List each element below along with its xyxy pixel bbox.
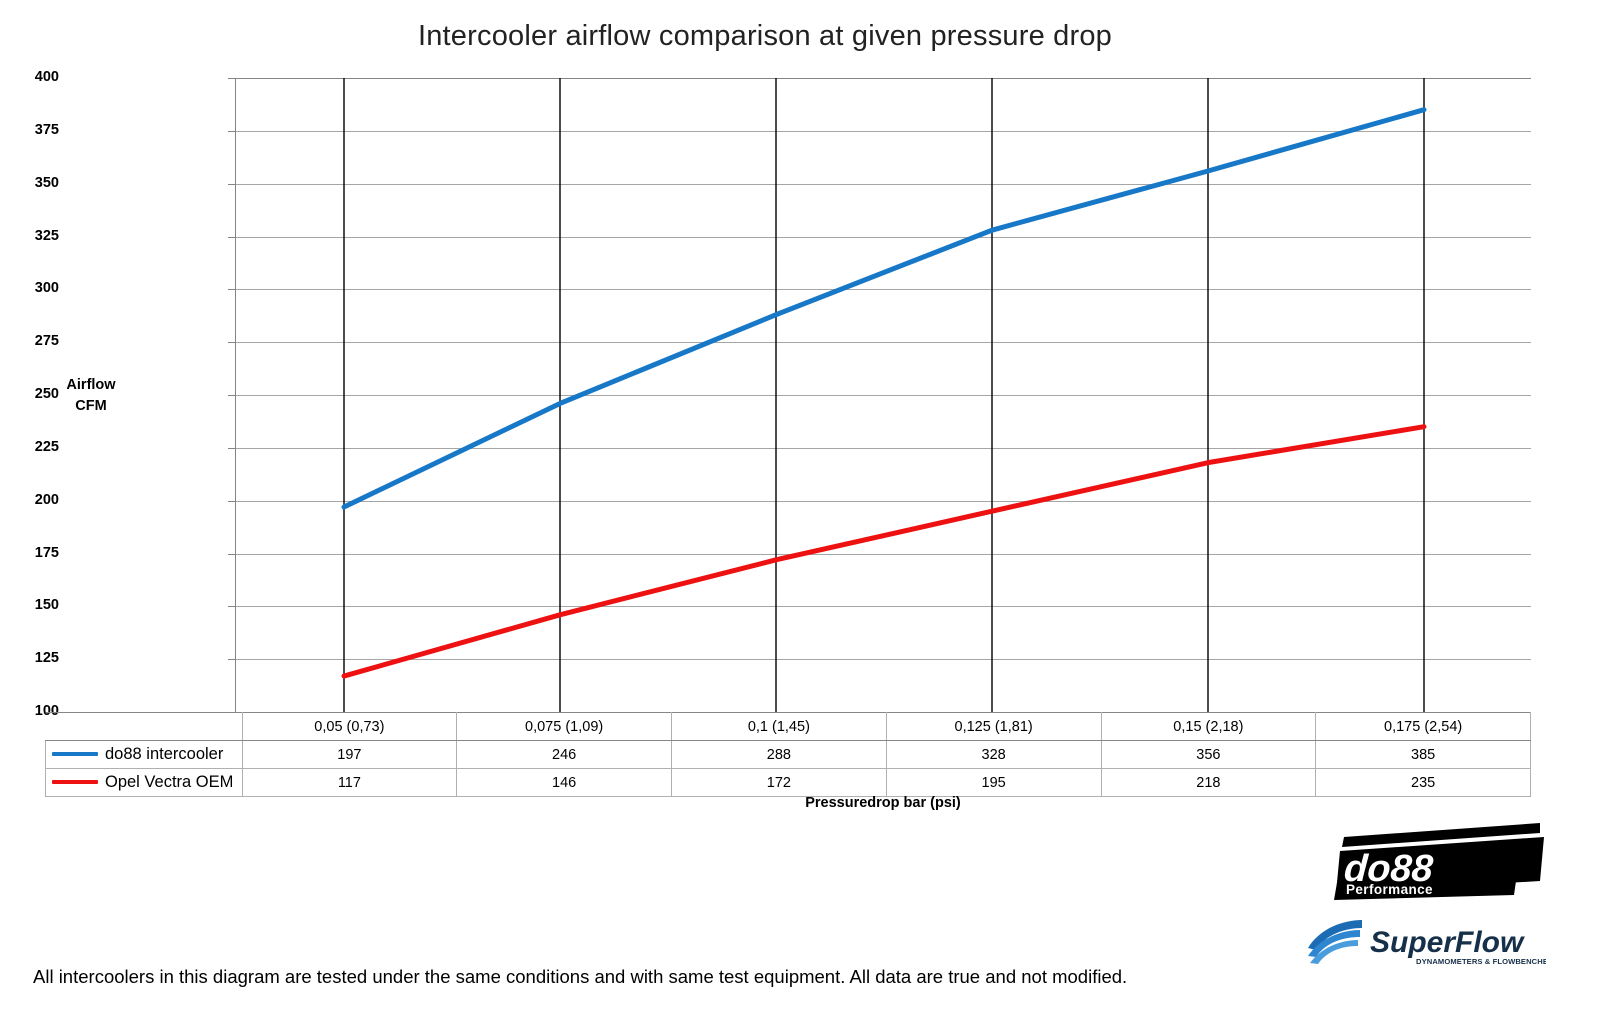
do88-logo-tagline: Performance [1346, 882, 1433, 897]
data-cell: 197 [242, 741, 457, 769]
legend-label: Opel Vectra OEM [105, 773, 233, 791]
series-lines [236, 78, 1532, 712]
y-axis-tick-label: 350 [13, 175, 59, 191]
data-cell: 356 [1101, 741, 1316, 769]
legend-item-0[interactable]: do88 intercooler [46, 741, 243, 769]
y-axis-tick-mark [228, 554, 235, 555]
legend-color-swatch-icon [52, 780, 98, 784]
y-axis-tick-label: 225 [13, 439, 59, 455]
y-axis-tick-label: 150 [13, 597, 59, 613]
data-cell: 172 [672, 769, 887, 797]
y-axis-tick-label: 125 [13, 650, 59, 666]
data-cell: 246 [457, 741, 672, 769]
series-line-0 [344, 110, 1424, 507]
y-axis-tick-mark [228, 289, 235, 290]
series-line-1 [344, 427, 1424, 676]
y-axis-tick-label: 200 [13, 492, 59, 508]
data-table: 0,05 (0,73)0,075 (1,09)0,1 (1,45)0,125 (… [45, 712, 1531, 797]
y-axis-tick-label: 275 [13, 333, 59, 349]
legend-label: do88 intercooler [105, 745, 223, 763]
y-axis-tick-mark [228, 184, 235, 185]
table-row: Opel Vectra OEM117146172195218235 [46, 769, 1531, 797]
superflow-logo-text: SuperFlow [1370, 926, 1525, 959]
y-axis-tick-mark [228, 395, 235, 396]
y-axis-tick-mark [228, 131, 235, 132]
y-axis-tick-label: 300 [13, 280, 59, 296]
y-axis-tick-mark [228, 237, 235, 238]
superflow-logo: SuperFlow DYNAMOMETERS & FLOWBENCHES [1300, 912, 1546, 970]
plot-area [235, 78, 1531, 712]
table-row: 0,05 (0,73)0,075 (1,09)0,1 (1,45)0,125 (… [46, 713, 1531, 741]
y-axis-tick-label: 175 [13, 545, 59, 561]
x-axis-category-label: 0,125 (1,81) [886, 713, 1101, 741]
superflow-logo-tagline: DYNAMOMETERS & FLOWBENCHES [1416, 957, 1546, 966]
do88-performance-logo: do88 Performance [1318, 815, 1546, 900]
x-axis-category-label: 0,15 (2,18) [1101, 713, 1316, 741]
legend-item-1[interactable]: Opel Vectra OEM [46, 769, 243, 797]
data-cell: 146 [457, 769, 672, 797]
y-axis-tick-label: 375 [13, 122, 59, 138]
data-cell: 195 [886, 769, 1101, 797]
y-axis-tick-mark [228, 606, 235, 607]
footer-note: All intercoolers in this diagram are tes… [33, 966, 1127, 988]
data-cell: 288 [672, 741, 887, 769]
data-cell: 218 [1101, 769, 1316, 797]
x-axis-title: Pressuredrop bar (psi) [235, 795, 1531, 811]
data-cell: 235 [1316, 769, 1531, 797]
x-axis-category-label: 0,05 (0,73) [242, 713, 457, 741]
x-axis-category-label: 0,175 (2,54) [1316, 713, 1531, 741]
table-row: do88 intercooler197246288328356385 [46, 741, 1531, 769]
superflow-swoosh-icon [1308, 920, 1362, 964]
data-cell: 328 [886, 741, 1101, 769]
x-axis-category-label: 0,1 (1,45) [672, 713, 887, 741]
y-axis-tick-mark [228, 501, 235, 502]
y-axis-tick-mark [228, 448, 235, 449]
chart-title: Intercooler airflow comparison at given … [0, 20, 1530, 53]
y-axis-tick-label: 400 [13, 69, 59, 85]
legend-color-swatch-icon [52, 752, 98, 756]
data-cell: 385 [1316, 741, 1531, 769]
y-axis-tick-mark [228, 659, 235, 660]
y-axis-tick-mark [228, 78, 235, 79]
y-axis-tick-mark [228, 342, 235, 343]
table-corner-cell [46, 713, 243, 741]
y-axis-tick-label: 325 [13, 228, 59, 244]
data-cell: 117 [242, 769, 457, 797]
x-axis-category-label: 0,075 (1,09) [457, 713, 672, 741]
y-axis-tick-label: 250 [13, 386, 59, 402]
